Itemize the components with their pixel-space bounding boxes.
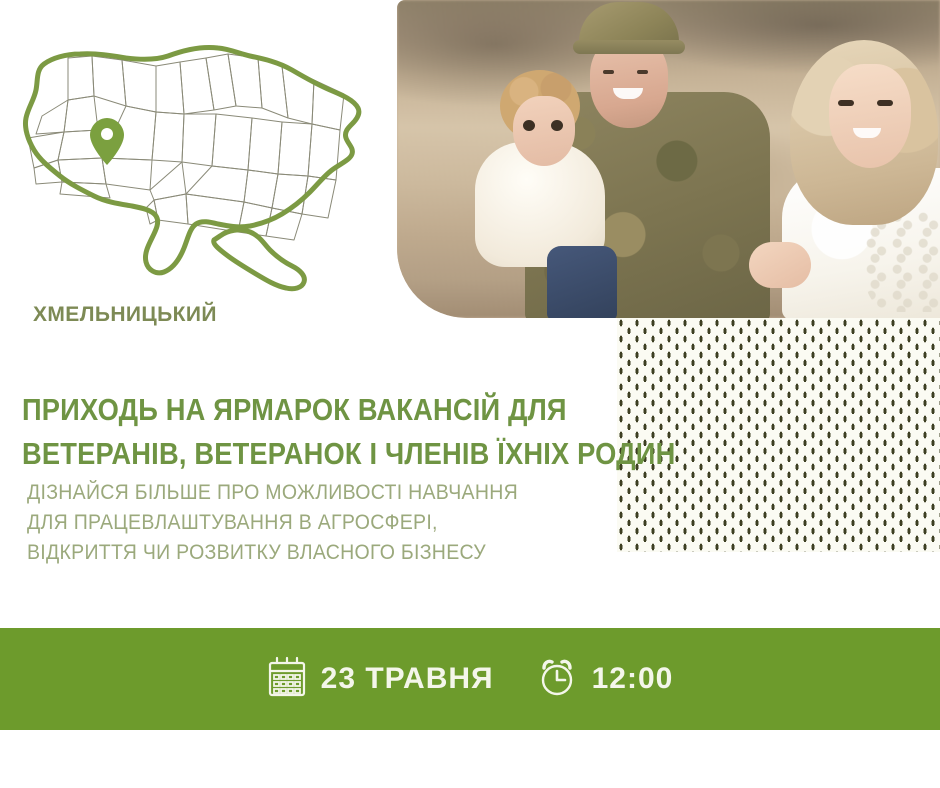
subheadline-line-1: ДІЗНАЙСЯ БІЛЬШЕ ПРО МОЖЛИВОСТІ НАВЧАННЯ <box>27 478 604 508</box>
page-subtitle: ДІЗНАЙСЯ БІЛЬШЕ ПРО МОЖЛИВОСТІ НАВЧАННЯ … <box>27 478 604 568</box>
ukraine-map <box>6 18 378 293</box>
family-photo <box>397 0 940 318</box>
soldier-eye-left <box>603 70 614 74</box>
calendar-icon <box>267 656 307 703</box>
event-time-text: 12:00 <box>592 662 674 696</box>
event-details-bar: 23 ТРАВНЯ 12:00 <box>0 628 940 730</box>
event-date-group: 23 ТРАВНЯ <box>267 656 494 703</box>
region-label: ХМЕЛЬНИЦЬКИЙ <box>33 303 217 327</box>
alarm-clock-icon <box>536 656 578 703</box>
woman-arm <box>749 242 811 288</box>
photo-inner <box>397 0 940 318</box>
event-date-text: 23 ТРАВНЯ <box>321 662 494 696</box>
page-title: ПРИХОДЬ НА ЯРМАРОК ВАКАНСІЙ ДЛЯ ВЕТЕРАНІ… <box>22 388 550 476</box>
ukraine-map-svg <box>6 18 378 293</box>
headline-line-1: ПРИХОДЬ НА ЯРМАРОК ВАКАНСІЙ ДЛЯ <box>22 388 550 432</box>
child-face <box>513 96 575 166</box>
child-eye-left <box>523 120 535 131</box>
woman-eye-right <box>877 100 893 106</box>
map-oblast-borders <box>28 54 344 240</box>
crimea-outline <box>214 230 305 289</box>
headline-line-2: ВЕТЕРАНІВ, ВЕТЕРАНОК І ЧЛЕНІВ ЇХНІХ РОДИ… <box>22 432 550 476</box>
poster-canvas: ХМЕЛЬНИЦЬКИЙ ПРИХОДЬ НА ЯРМАРОК ВАКАНСІЙ… <box>0 0 940 788</box>
child-jeans <box>547 246 617 318</box>
soldier-eye-right <box>637 70 648 74</box>
subheadline-line-3: ВІДКРИТТЯ ЧИ РОЗВИТКУ ВЛАСНОГО БІЗНЕСУ <box>27 538 604 568</box>
decorative-dot-pattern <box>617 318 940 552</box>
woman-face <box>829 64 911 168</box>
subheadline-line-2: ДЛЯ ПРАЦЕВЛАШТУВАННЯ В АГРОСФЕРІ, <box>27 508 604 538</box>
event-time-group: 12:00 <box>536 656 674 703</box>
woman-eye-left <box>838 100 854 106</box>
child-eye-right <box>551 120 563 131</box>
